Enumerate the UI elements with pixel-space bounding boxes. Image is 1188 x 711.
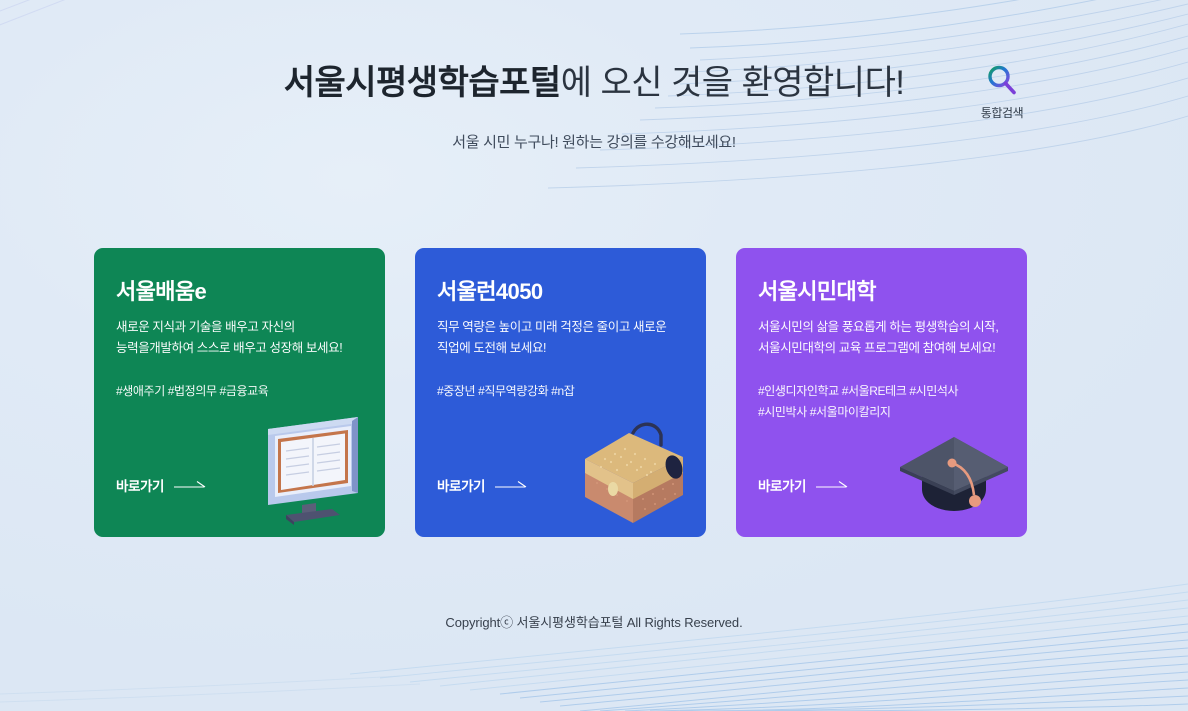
card-title: 서울런4050 xyxy=(437,274,684,306)
card-go-link[interactable]: 바로가기 xyxy=(437,475,528,495)
service-card-seoul-citizen-university[interactable]: 서울시민대학 서울시민의 삶을 풍요롭게 하는 평생학습의 시작, 서울시민대학… xyxy=(736,248,1027,537)
service-card-list: 서울배움e 새로운 지식과 기술을 배우고 자신의 능력을개발하여 스스로 배우… xyxy=(94,248,1094,537)
integrated-search-button[interactable]: 통합검색 xyxy=(964,58,1040,121)
card-description-line-2: 직업에 도전해 보세요! xyxy=(437,338,684,359)
card-title: 서울시민대학 xyxy=(758,274,1005,306)
card-description-line-2: 능력을개발하여 스스로 배우고 성장해 보세요! xyxy=(116,338,363,359)
card-go-link[interactable]: 바로가기 xyxy=(116,475,207,495)
page-title-strong: 서울시평생학습포털 xyxy=(284,64,561,102)
card-tags-line-1: #생애주기 #법정의무 #금융교육 xyxy=(116,381,363,402)
card-go-label: 바로가기 xyxy=(758,475,806,495)
arrow-right-icon xyxy=(494,480,528,490)
service-card-seoul-baeum-e[interactable]: 서울배움e 새로운 지식과 기술을 배우고 자신의 능력을개발하여 스스로 배우… xyxy=(94,248,385,537)
card-description: 직무 역량은 높이고 미래 걱정은 줄이고 새로운 직업에 도전해 보세요! xyxy=(437,317,684,358)
card-description-line-2: 서울시민대학의 교육 프로그램에 참여해 보세요! xyxy=(758,338,1005,359)
card-tags: #중장년 #직무역량강화 #n잡 xyxy=(437,381,684,402)
card-description-line-1: 직무 역량은 높이고 미래 걱정은 줄이고 새로운 xyxy=(437,317,684,338)
monitor-book-icon xyxy=(250,411,375,529)
card-tags-line-1: #중장년 #직무역량강화 #n잡 xyxy=(437,381,684,402)
card-description: 서울시민의 삶을 풍요롭게 하는 평생학습의 시작, 서울시민대학의 교육 프로… xyxy=(758,317,1005,358)
graduation-cap-icon xyxy=(892,411,1017,529)
card-go-label: 바로가기 xyxy=(437,475,485,495)
footer-copyright: Copyrightⓒ 서울시평생학습포털 All Rights Reserved… xyxy=(0,612,1188,631)
search-icon-glyph xyxy=(985,63,1019,97)
card-description-line-1: 서울시민의 삶을 풍요롭게 하는 평생학습의 시작, xyxy=(758,317,1005,338)
card-tags: #생애주기 #법정의무 #금융교육 xyxy=(116,381,363,402)
arrow-right-icon xyxy=(173,480,207,490)
page-title-rest: 에 오신 것을 환영합니다! xyxy=(561,64,905,102)
briefcase-icon xyxy=(571,411,696,529)
card-go-link[interactable]: 바로가기 xyxy=(758,475,849,495)
card-description-line-1: 새로운 지식과 기술을 배우고 자신의 xyxy=(116,317,363,338)
card-title: 서울배움e xyxy=(116,274,363,306)
arrow-right-icon xyxy=(815,480,849,490)
card-go-label: 바로가기 xyxy=(116,475,164,495)
search-label: 통합검색 xyxy=(964,104,1040,121)
search-icon[interactable] xyxy=(964,58,1040,102)
page-subtitle: 서울 시민 누구나! 원하는 강의를 수강해보세요! xyxy=(0,131,1188,152)
service-card-seoul-learn-4050[interactable]: 서울런4050 직무 역량은 높이고 미래 걱정은 줄이고 새로운 직업에 도전… xyxy=(415,248,706,537)
card-description: 새로운 지식과 기술을 배우고 자신의 능력을개발하여 스스로 배우고 성장해 … xyxy=(116,317,363,358)
page-root: 서울시평생학습포털에 오신 것을 환영합니다! 서울 시민 누구나! 원하는 강… xyxy=(0,0,1188,711)
card-tags-line-1: #인생디자인학교 #서울RE테크 #시민석사 xyxy=(758,381,1005,402)
